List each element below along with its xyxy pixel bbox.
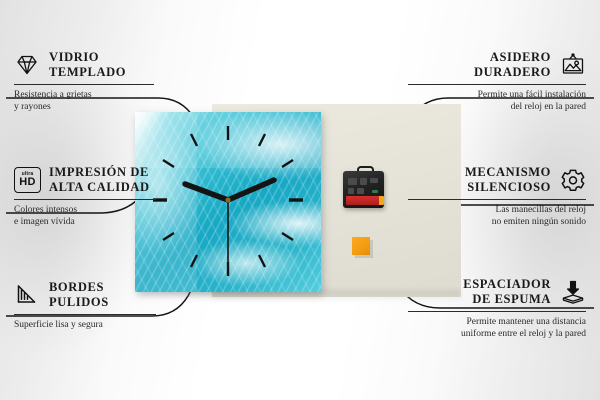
diamond-icon (14, 52, 40, 78)
callout-title: BORDES PULIDOS (49, 280, 109, 310)
mechanism-detail (348, 178, 357, 185)
callout-header: ESPACIADOR DE ESPUMA (408, 277, 586, 307)
mechanism-detail (348, 188, 354, 194)
callout-header: BORDES PULIDOS (14, 280, 156, 310)
polished-edges-icon (14, 282, 40, 308)
callout-description: Superficie lisa y segura (14, 319, 156, 332)
picture-frame-hanger-icon (560, 52, 586, 78)
infographic-canvas: VIDRIO TEMPLADO Resistencia a grietas y … (0, 0, 600, 400)
callout-description: Resistencia a grietas y rayones (14, 89, 154, 114)
feature-callout-espaciador-de-espuma: ESPACIADOR DE ESPUMA Permite mantener un… (408, 277, 586, 341)
callout-description: Colores intensos e imagen vívida (14, 204, 156, 229)
feature-callout-impresion-alta-calidad: ultra HD IMPRESIÓN DE ALTA CALIDAD Color… (14, 165, 156, 229)
mechanism-detail (372, 190, 378, 193)
callout-description: Las manecillas del reloj no emiten ningú… (408, 204, 586, 229)
callout-divider (14, 84, 154, 85)
foam-spacer-sample (352, 237, 370, 255)
callout-title: ESPACIADOR DE ESPUMA (463, 277, 551, 307)
clock-mechanism (343, 171, 384, 208)
mechanism-battery (346, 196, 380, 205)
glass-wall-clock (135, 112, 321, 292)
callout-divider (14, 199, 156, 200)
callout-divider (408, 199, 586, 200)
mechanism-detail (357, 188, 364, 194)
callout-divider (408, 311, 586, 312)
ultra-hd-badge: ultra HD (14, 167, 41, 193)
minute-hand (228, 180, 274, 200)
ultra-hd-icon: ultra HD (14, 167, 40, 193)
foam-spacer-icon (560, 279, 586, 305)
ultra-hd-large-label: HD (19, 177, 36, 188)
mechanism-battery-terminal (379, 196, 384, 205)
feature-callout-vidrio-templado: VIDRIO TEMPLADO Resistencia a grietas y … (14, 50, 154, 114)
callout-description: Permite una fácil instalación del reloj … (408, 89, 586, 114)
callout-header: ultra HD IMPRESIÓN DE ALTA CALIDAD (14, 165, 156, 195)
gear-icon (560, 167, 586, 193)
hands-center-cap (225, 197, 230, 202)
callout-title: MECANISMO SILENCIOSO (465, 165, 551, 195)
callout-title: ASIDERO DURADERO (474, 50, 551, 80)
callout-title: IMPRESIÓN DE ALTA CALIDAD (49, 165, 150, 195)
callout-divider (408, 84, 586, 85)
feature-callout-mecanismo-silencioso: MECANISMO SILENCIOSO Las manecillas del … (408, 165, 586, 229)
mechanism-detail (360, 178, 367, 185)
callout-title: VIDRIO TEMPLADO (49, 50, 126, 80)
callout-header: MECANISMO SILENCIOSO (408, 165, 586, 195)
clock-face (135, 112, 321, 292)
callout-divider (14, 314, 156, 315)
callout-description: Permite mantener una distancia uniforme … (408, 316, 586, 341)
mechanism-detail (370, 178, 378, 183)
feature-callout-asidero-duradero: ASIDERO DURADERO Permite una fácil insta… (408, 50, 586, 114)
callout-header: VIDRIO TEMPLADO (14, 50, 154, 80)
callout-header: ASIDERO DURADERO (408, 50, 586, 80)
hour-hand (185, 184, 228, 200)
feature-callout-bordes-pulidos: BORDES PULIDOS Superficie lisa y segura (14, 280, 156, 331)
